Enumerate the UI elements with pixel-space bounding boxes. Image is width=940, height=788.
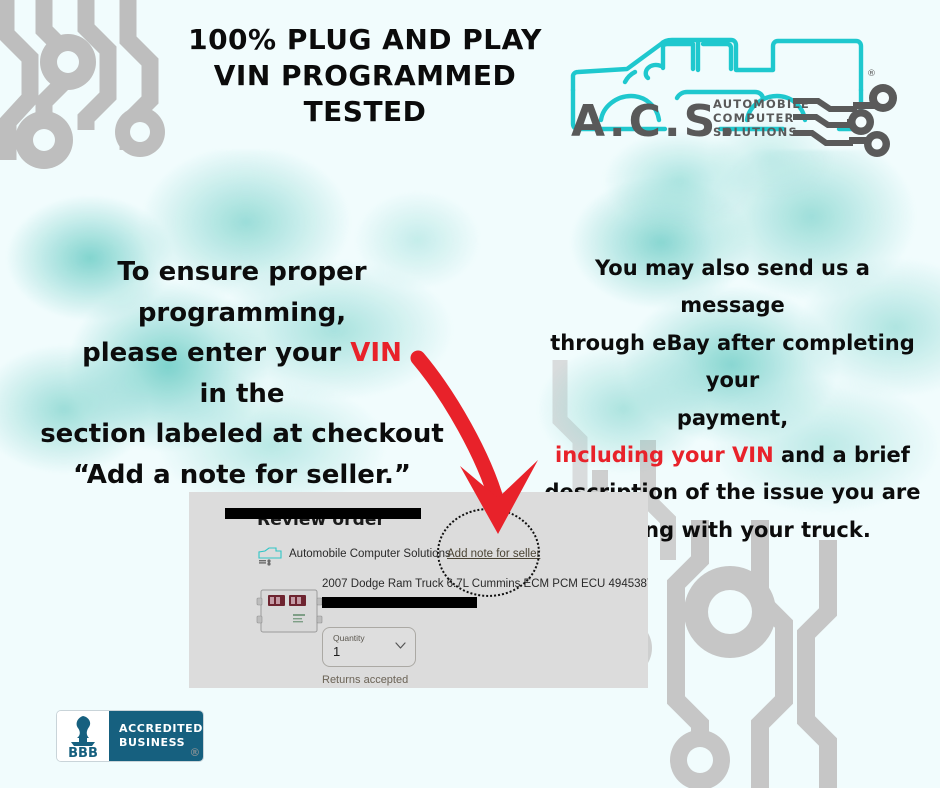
right-line-4: including your VIN and a brief: [540, 437, 925, 474]
left-line-3-text: please enter your: [82, 338, 350, 368]
left-line-1: To ensure proper: [22, 252, 462, 293]
seller-name: Automobile Computer Solutions: [289, 548, 451, 560]
right-line-4-text: and a brief: [774, 443, 910, 467]
redacted-price: [322, 597, 477, 608]
headline-line-3: TESTED: [150, 94, 580, 130]
svg-text:BBB: BBB: [68, 746, 98, 759]
poster-canvas: 100% PLUG AND PLAY VIN PROGRAMMED TESTED: [0, 0, 940, 788]
returns-accepted-text: Returns accepted: [322, 674, 408, 686]
bbb-line-1: ACCREDITED: [119, 722, 203, 736]
left-line-4: in the: [22, 374, 462, 415]
left-line-3: please enter your VIN: [22, 333, 462, 374]
headline: 100% PLUG AND PLAY VIN PROGRAMMED TESTED: [150, 22, 580, 129]
quantity-value: 1: [333, 644, 340, 659]
left-line-5: section labeled at checkout: [22, 414, 462, 455]
vin-highlight-right: including your VIN: [555, 443, 774, 467]
product-thumbnail-ecm: [255, 586, 325, 638]
instruction-text-left: To ensure proper programming, please ent…: [22, 252, 462, 495]
bbb-accredited-text: ACCREDITED BUSINESS ®: [109, 711, 203, 761]
svg-text:®: ®: [867, 69, 876, 79]
acs-logo: ® A.C.S. AUTOMOBILE COMPUTER SOLUTIONS: [565, 28, 910, 158]
left-line-6: “Add a note for seller.”: [22, 455, 462, 496]
bbb-accredited-business-badge: BBB ACCREDITED BUSINESS ®: [56, 710, 204, 762]
headline-line-2: VIN PROGRAMMED: [150, 58, 580, 94]
right-line-3: payment,: [540, 400, 925, 437]
quantity-label: Quantity: [333, 633, 365, 643]
svg-text:COMPUTER: COMPUTER: [713, 111, 795, 125]
vin-highlight-left: VIN: [350, 338, 402, 368]
redacted-seller-detail: [225, 508, 421, 519]
left-line-2: programming,: [22, 293, 462, 334]
bbb-torch-mark: BBB: [57, 711, 109, 761]
seller-avatar-icon: [257, 546, 283, 566]
headline-line-1: 100% PLUG AND PLAY: [150, 22, 580, 58]
quantity-select[interactable]: Quantity 1: [322, 627, 416, 667]
svg-text:SOLUTIONS: SOLUTIONS: [713, 125, 798, 139]
right-line-2: through eBay after completing your: [540, 325, 925, 400]
right-line-1: You may also send us a message: [540, 250, 925, 325]
chevron-down-icon: [395, 642, 406, 649]
red-arrow-annotation: [398, 348, 568, 548]
bbb-registered-mark: ®: [189, 746, 201, 760]
